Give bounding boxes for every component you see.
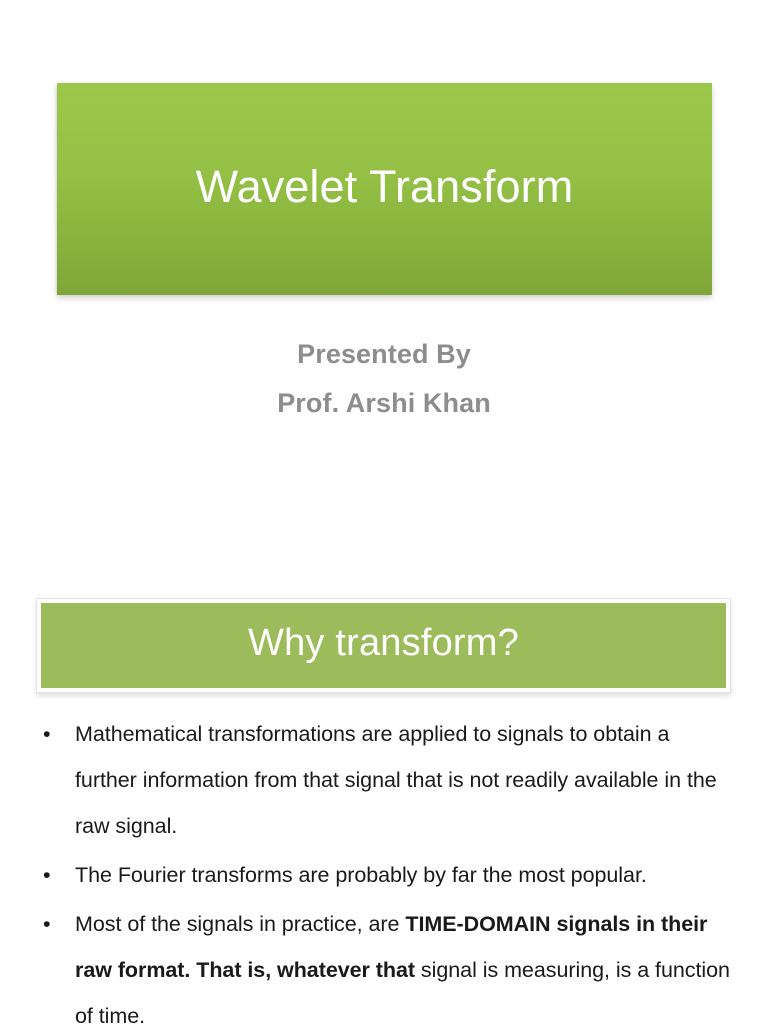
bullet-list: • Mathematical transformations are appli… xyxy=(36,711,736,1024)
slide-page: Wavelet Transform Presented By Prof. Ars… xyxy=(0,0,768,1024)
list-item: • The Fourier transforms are probably by… xyxy=(36,852,736,898)
bullet-point-icon: • xyxy=(43,901,57,947)
list-item: • Mathematical transformations are appli… xyxy=(36,711,736,849)
bullet-point-icon: • xyxy=(43,711,57,757)
bullet-text-mathematical-transformations: Mathematical transformations are applied… xyxy=(75,722,717,838)
presenter-name: Prof. Arshi Khan xyxy=(0,379,768,428)
title-banner: Wavelet Transform xyxy=(57,83,712,295)
slide-why-transform-section: Why transform? • Mathematical transforma… xyxy=(0,568,768,1024)
bullet-text-fourier-transforms: The Fourier transforms are probably by f… xyxy=(75,863,647,887)
bullet-text-time-domain-signals: Most of the signals in practice, are TIM… xyxy=(75,912,730,1024)
page-title: Wavelet Transform xyxy=(196,162,574,212)
presenter-block: Presented By Prof. Arshi Khan xyxy=(0,330,768,428)
slide-title-section: Wavelet Transform Presented By Prof. Ars… xyxy=(0,0,768,568)
section-title: Why transform? xyxy=(248,623,519,665)
bullet-point-icon: • xyxy=(43,852,57,898)
section-header-fill: Why transform? xyxy=(41,603,726,688)
presented-by-label: Presented By xyxy=(0,330,768,379)
list-item: • Most of the signals in practice, are T… xyxy=(36,901,736,1024)
section-header-frame: Why transform? xyxy=(36,598,731,693)
